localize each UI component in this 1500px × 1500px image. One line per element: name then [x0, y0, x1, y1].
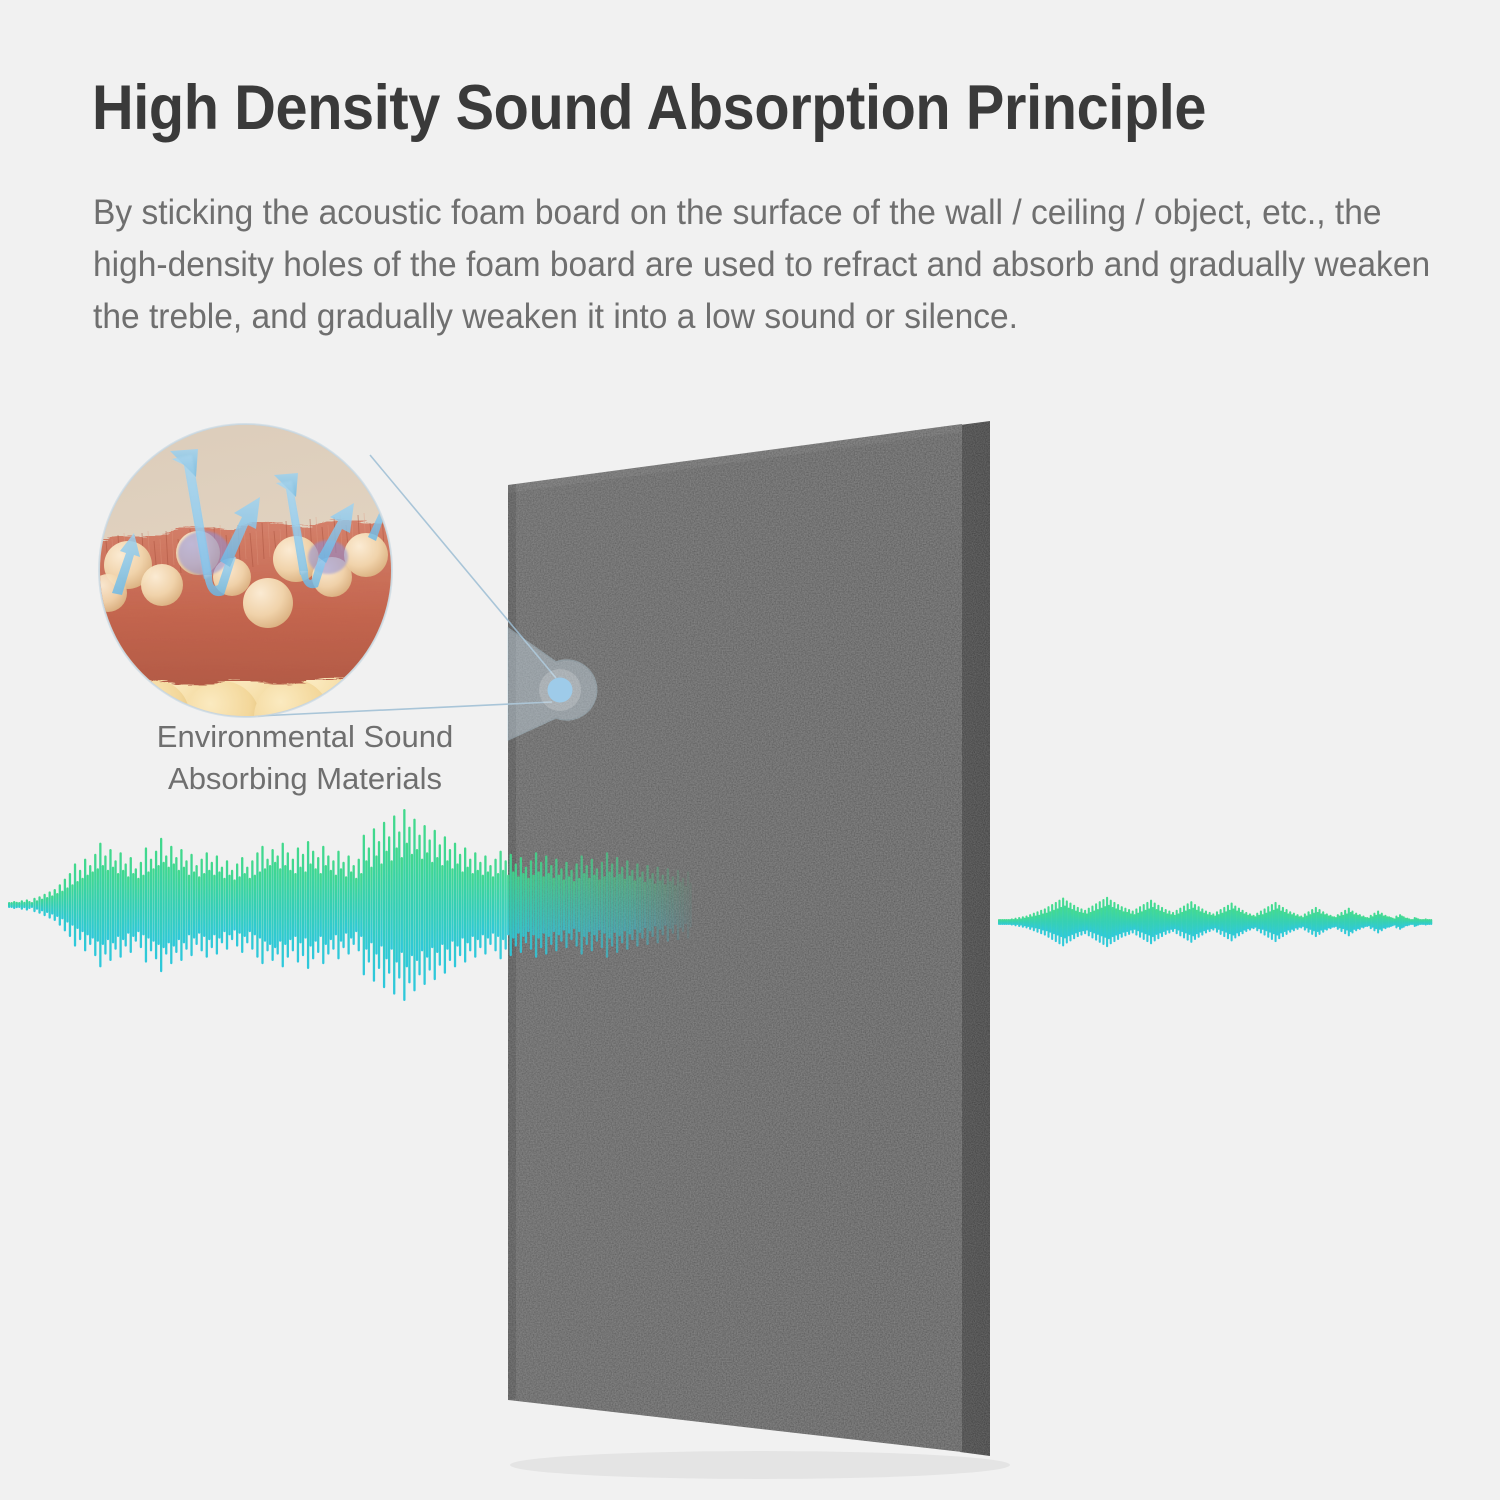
panel-side-edge	[960, 421, 990, 1456]
magnified-material-inset	[99, 424, 392, 717]
inset-illustration	[100, 425, 392, 717]
panel-front-face	[508, 424, 962, 1452]
inset-caption: Environmental Sound Absorbing Materials	[90, 716, 520, 800]
infographic-canvas: High Density Sound Absorption Principle …	[0, 0, 1500, 1500]
